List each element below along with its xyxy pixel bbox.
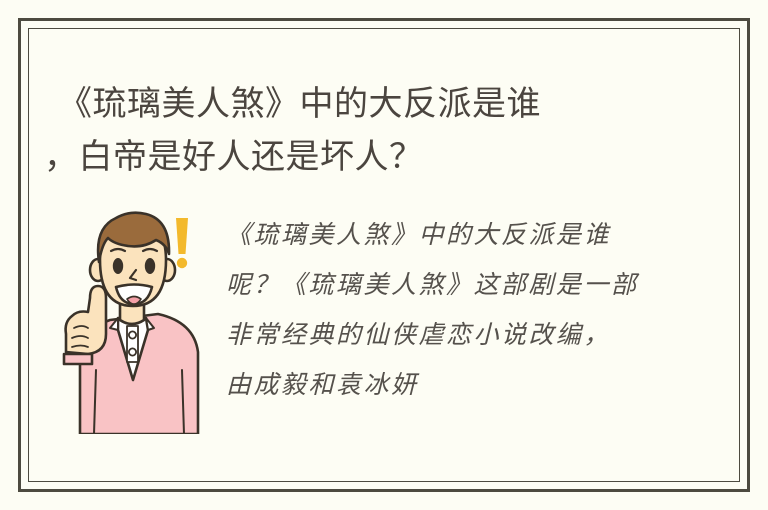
eye-right [145, 258, 155, 274]
title-line-1: 《琉璃美人煞》中的大反派是谁 [58, 78, 698, 131]
pointing-hand [66, 286, 106, 354]
body-line-1: 《琉璃美人煞》中的大反派是谁 [226, 210, 686, 260]
article-body-text: 《琉璃美人煞》中的大反派是谁 呢？《琉璃美人煞》这部剧是一部 非常经典的仙侠虐恋… [226, 210, 686, 410]
exclamation-icon [176, 218, 188, 268]
body-line-4: 由成毅和袁冰妍 [226, 360, 686, 410]
cuff-shape [64, 354, 92, 364]
article-body-area: 《琉璃美人煞》中的大反派是谁 呢？《琉璃美人煞》这部剧是一部 非常经典的仙侠虐恋… [28, 188, 740, 438]
article-content: 《琉璃美人煞》中的大反派是谁 ，白帝是好人还是坏人？ [28, 28, 740, 482]
page-root: 《琉璃美人煞》中的大反派是谁 ，白帝是好人还是坏人？ [0, 0, 768, 510]
pointing-person-illustration [48, 202, 218, 434]
page-title: 《琉璃美人煞》中的大反派是谁 ，白帝是好人还是坏人？ [58, 78, 698, 184]
eye-left [113, 258, 123, 274]
body-line-2: 呢？《琉璃美人煞》这部剧是一部 [226, 260, 686, 310]
title-line-2: ，白帝是好人还是坏人？ [58, 131, 698, 184]
body-line-3: 非常经典的仙侠虐恋小说改编， [226, 310, 686, 360]
